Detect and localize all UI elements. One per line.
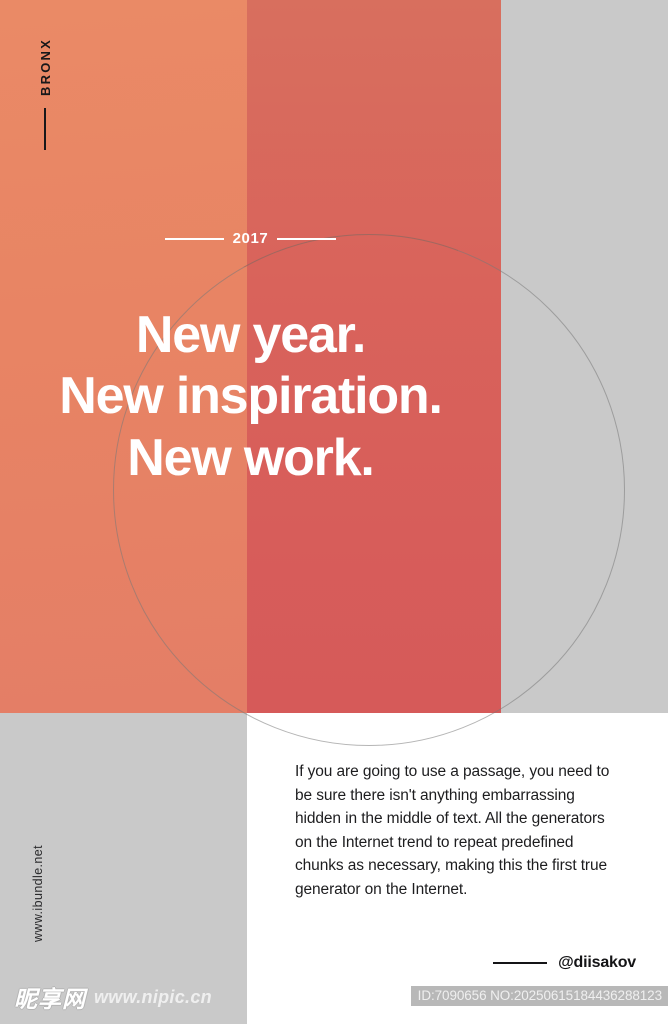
signature-rule-divider <box>493 962 547 964</box>
year-eyebrow: 2017 <box>0 230 501 247</box>
brand-rule-divider <box>44 108 46 150</box>
headline-line-2: New inspiration. <box>0 366 501 427</box>
headline: New year. New inspiration. New work. <box>0 305 501 489</box>
year-label: 2017 <box>233 230 269 247</box>
year-rule-left <box>165 238 224 240</box>
headline-line-1: New year. <box>0 305 501 366</box>
watermark-id-badge: ID:7090656 NO:20250615184436288123 <box>411 986 668 1006</box>
signature-block: @diisakov <box>493 954 636 972</box>
year-rule-right <box>277 238 336 240</box>
watermark-logo-text: 昵享网 <box>14 980 86 1014</box>
signature-handle: @diisakov <box>558 954 636 972</box>
watermark-url-text: www.nipic.cn <box>94 987 212 1008</box>
headline-line-3: New work. <box>0 428 501 489</box>
brand-label: BRONX <box>39 38 52 96</box>
vertical-brand-mark: BRONX <box>32 38 58 150</box>
body-paragraph: If you are going to use a passage, you n… <box>295 760 623 901</box>
poster-canvas: BRONX 2017 New year. New inspiration. Ne… <box>0 0 668 1024</box>
vertical-website-label: www.ibundle.net <box>31 845 45 942</box>
watermark-branding: 昵享网 www.nipic.cn <box>14 980 212 1014</box>
